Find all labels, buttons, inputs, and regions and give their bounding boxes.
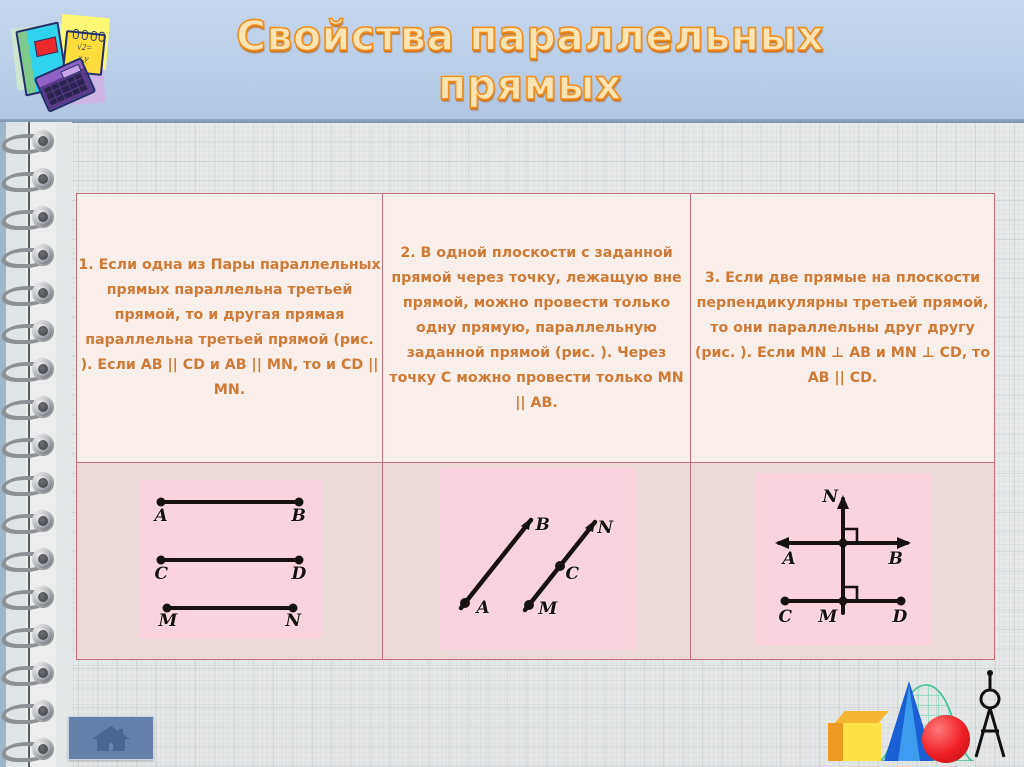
header-divider [0,119,1024,123]
page-title-line-2: прямых [150,61,910,110]
transversal-perpendicular-lines-figure: N A B C M D [755,473,931,645]
figure-3-label-M: M [819,607,838,627]
page-title: Свойства параллельных прямых [150,12,910,110]
figure-2-label-A: A [477,598,490,618]
spiral-ring [2,394,60,424]
math-supplies-clipart-icon: √2= x,y [6,4,114,116]
property-1-text: 1. Если одна из Пары параллельных прямых… [77,194,383,463]
property-1-figure-cell: A B C D M N [77,463,383,660]
spiral-ring [2,432,60,462]
figure-3-label-D: D [893,607,908,627]
home-button[interactable] [68,716,154,760]
two-parallel-diagonal-lines-figure: A B M C N [439,468,635,650]
table-row-text: 1. Если одна из Пары параллельных прямых… [77,194,995,463]
book-label [34,36,58,57]
figure-1-label-M: M [159,611,178,631]
cube-side-face [828,723,843,761]
figure-1-label-A: A [155,506,168,526]
spiral-ring [2,660,60,690]
spiral-ring [2,242,60,272]
figure-3-label-A: A [783,549,796,569]
spiral-ring [2,166,60,196]
page-title-line-1: Свойства параллельных [150,12,910,61]
spiral-ring [2,622,60,652]
figure-2-svg [439,468,635,650]
notepad-formula-1: √2= [76,41,92,53]
spiral-ring [2,546,60,576]
spiral-ring [2,318,60,348]
spiral-ring [2,508,60,538]
figure-3-label-N: N [823,487,839,507]
figure-2-label-N: N [598,518,614,538]
geometry-shapes-clipart-icon [826,655,1016,765]
spiral-ring [2,736,60,766]
spiral-ring [2,128,60,158]
figure-1-label-N: N [286,611,302,631]
slide-header: √2= x,y Свойства параллельных прямых [0,0,1024,122]
figure-3-label-B: B [889,549,903,569]
spiral-ring [2,698,60,728]
cube-front-face [843,723,881,761]
figure-2-label-M: M [539,599,558,619]
home-icon [89,723,133,753]
compass-icon [968,669,1012,763]
property-3-text: 3. Если две прямые на плоскости перпенди… [691,194,995,463]
spiral-ring [2,356,60,386]
spiral-ring [2,470,60,500]
property-2-figure-cell: A B M C N [383,463,691,660]
slide: √2= x,y Свойства параллельных прямых [0,0,1024,767]
notebook-spiral-binding [0,122,72,767]
spiral-ring [2,280,60,310]
spiral-ring [2,584,60,614]
figure-3-label-C: C [779,607,793,627]
property-3-figure-cell: N A B C M D [691,463,995,660]
properties-table: 1. Если одна из Пары параллельных прямых… [76,193,995,660]
figure-1-label-B: B [292,506,306,526]
figure-2-label-B: B [536,515,550,535]
spiral-ring [2,204,60,234]
table-row-figures: A B C D M N [77,463,995,660]
cone-highlight [898,685,920,761]
figure-1-label-D: D [292,564,307,584]
property-2-text: 2. В одной плоскости с заданной прямой ч… [383,194,691,463]
figure-1-label-C: C [155,564,169,584]
three-parallel-horizontal-lines-figure: A B C D M N [139,480,321,638]
figure-2-label-C: C [566,564,580,584]
sphere-icon [922,715,970,763]
